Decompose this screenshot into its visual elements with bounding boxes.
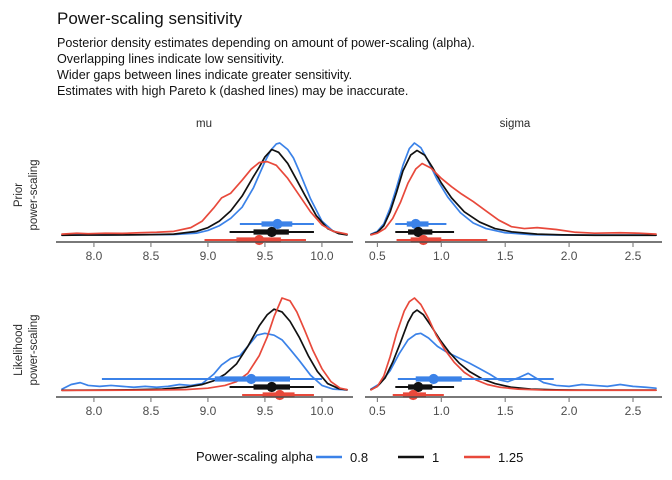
page-title: Power-scaling sensitivity bbox=[57, 9, 243, 28]
x-axis-tick-label: 9.0 bbox=[200, 404, 217, 418]
interval-point-estimate bbox=[267, 227, 277, 237]
x-axis-tick-label: 8.5 bbox=[143, 249, 160, 263]
subtitle-line-4: Estimates with high Pareto k (dashed lin… bbox=[57, 84, 408, 98]
x-axis-tick-label: 10.0 bbox=[310, 249, 334, 263]
subtitle-line-3: Wider gaps between lines indicate greate… bbox=[57, 68, 352, 82]
x-axis-tick-label: 8.5 bbox=[143, 404, 160, 418]
facet-row-label-likelihood-line1: Likelihood bbox=[13, 324, 25, 376]
legend-item-label: 0.8 bbox=[350, 450, 368, 465]
facet-row-label-prior-line2: power-scaling bbox=[28, 160, 40, 231]
x-axis-tick-label: 1.0 bbox=[433, 404, 450, 418]
x-axis-tick-label: 9.5 bbox=[257, 404, 274, 418]
facet-column-label-sigma: sigma bbox=[500, 118, 531, 130]
interval-point-estimate bbox=[408, 390, 418, 400]
subtitle-line-1: Posterior density estimates depending on… bbox=[57, 36, 475, 50]
x-axis-tick-label: 2.5 bbox=[625, 404, 642, 418]
facet-row-label-likelihood-line2: power-scaling bbox=[28, 315, 40, 386]
legend-item-label: 1 bbox=[432, 450, 439, 465]
x-axis-tick-label: 1.5 bbox=[497, 249, 514, 263]
legend-title: Power-scaling alpha bbox=[196, 449, 314, 464]
x-axis-tick-label: 2.5 bbox=[625, 249, 642, 263]
power-scaling-sensitivity-chart: Power-scaling sensitivity Posterior dens… bbox=[0, 0, 672, 480]
x-axis-tick-label: 10.0 bbox=[310, 404, 334, 418]
x-axis-tick-label: 0.5 bbox=[369, 249, 386, 263]
x-axis-tick-label: 1.5 bbox=[497, 404, 514, 418]
x-axis-tick-label: 0.5 bbox=[369, 404, 386, 418]
x-axis-tick-label: 9.5 bbox=[257, 249, 274, 263]
legend-item-label: 1.25 bbox=[498, 450, 523, 465]
x-axis-tick-label: 1.0 bbox=[433, 249, 450, 263]
x-axis-tick-label: 8.0 bbox=[86, 404, 103, 418]
facet-column-label-mu: mu bbox=[196, 118, 212, 130]
x-axis-tick-label: 9.0 bbox=[200, 249, 217, 263]
x-axis-tick-label: 2.0 bbox=[561, 249, 578, 263]
interval-point-estimate bbox=[254, 235, 264, 245]
interval-point-estimate bbox=[418, 235, 428, 245]
interval-point-estimate bbox=[267, 382, 277, 392]
interval-point-estimate bbox=[275, 390, 285, 400]
facet-row-label-prior-line1: Prior bbox=[13, 183, 25, 207]
subtitle-line-2: Overlapping lines indicate low sensitivi… bbox=[57, 52, 284, 66]
interval-point-estimate bbox=[429, 374, 439, 384]
x-axis-tick-label: 8.0 bbox=[86, 249, 103, 263]
interval-point-estimate bbox=[246, 374, 256, 384]
x-axis-tick-label: 2.0 bbox=[561, 404, 578, 418]
